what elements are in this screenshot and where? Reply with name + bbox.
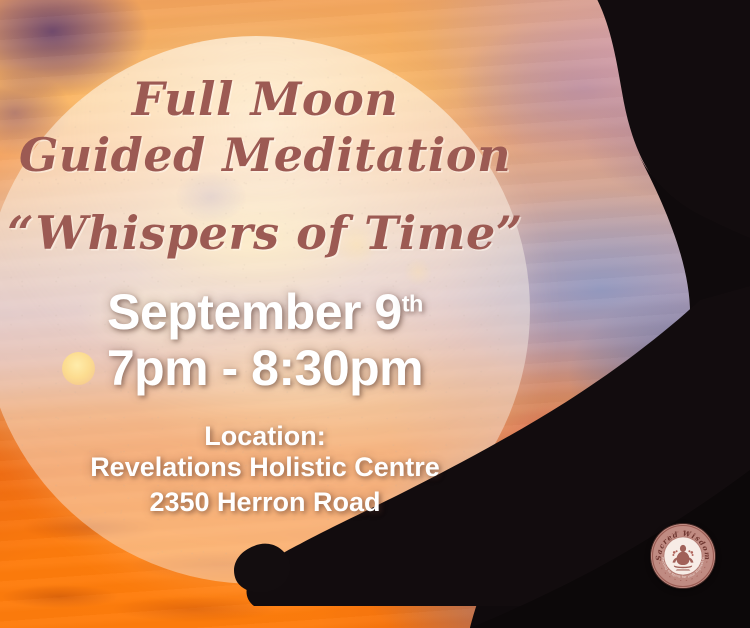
location-address: 2350 Herron Road xyxy=(0,487,530,518)
event-time-range: 7pm - 8:30pm xyxy=(0,339,530,397)
event-date-text: September 9 xyxy=(107,284,402,340)
sacred-wisdom-logo-badge[interactable]: Sacred Wisdom Connecting to Spirit for y… xyxy=(651,524,715,588)
quoted-title: “Whispers of Time” xyxy=(0,206,530,260)
event-poster: Full Moon Guided Meditation “Whispers of… xyxy=(0,0,750,628)
event-date-ordinal: th xyxy=(402,290,423,316)
headline-line-2: Guided Meditation xyxy=(0,128,530,182)
headline-line-1: Full Moon xyxy=(0,72,530,126)
location-venue: Revelations Holistic Centre xyxy=(0,452,530,483)
event-date: September 9th xyxy=(0,283,530,341)
location-label: Location: xyxy=(0,421,530,452)
poster-content: Full Moon Guided Meditation “Whispers of… xyxy=(0,0,530,628)
